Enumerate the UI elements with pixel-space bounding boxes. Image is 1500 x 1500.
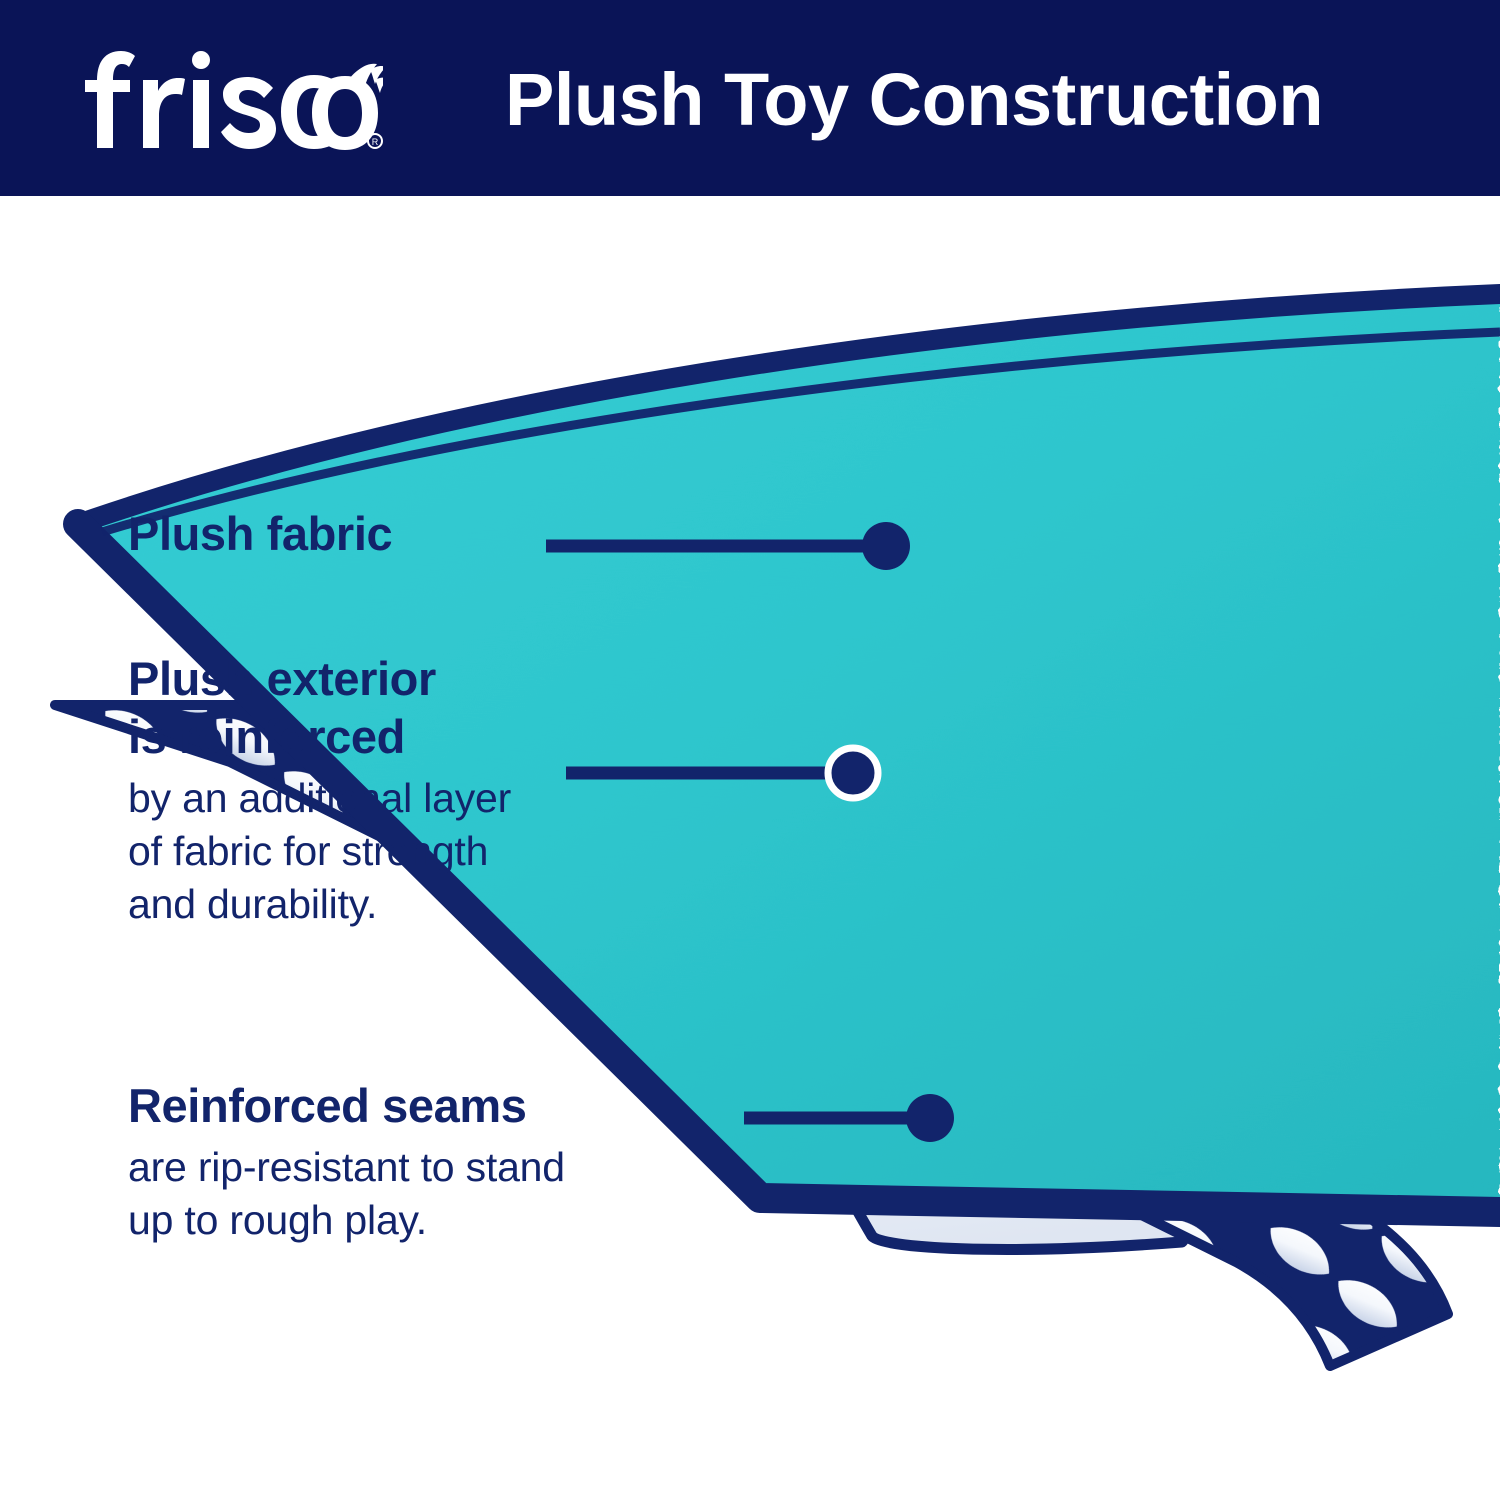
label-plush-fabric-heading: Plush fabric [128, 505, 392, 563]
page-title: Plush Toy Construction [505, 46, 1323, 154]
svg-text:R: R [372, 137, 379, 147]
label-reinforced-seams: Reinforced seams are rip-resistant to st… [128, 1077, 565, 1247]
callout-dot-plush-exterior [828, 748, 878, 798]
label-reinforced-seams-heading: Reinforced seams [128, 1077, 565, 1135]
label-reinforced-seams-body: are rip-resistant to stand up to rough p… [128, 1141, 565, 1247]
label-plush-exterior-heading: Plush exterior is reinforced [128, 650, 511, 766]
label-plush-fabric: Plush fabric [128, 505, 392, 563]
callout-dot-reinforced-seams [906, 1094, 954, 1142]
callout-dot-plush-fabric [862, 522, 910, 570]
label-plush-exterior: Plush exterior is reinforced by an addit… [128, 650, 511, 931]
label-plush-exterior-body: by an additional layer of fabric for str… [128, 772, 511, 931]
header-bar: R Plush Toy Construction [0, 0, 1500, 196]
infographic-page: R Plush Toy Construction [0, 0, 1500, 1500]
frisco-logo: R [83, 44, 383, 154]
